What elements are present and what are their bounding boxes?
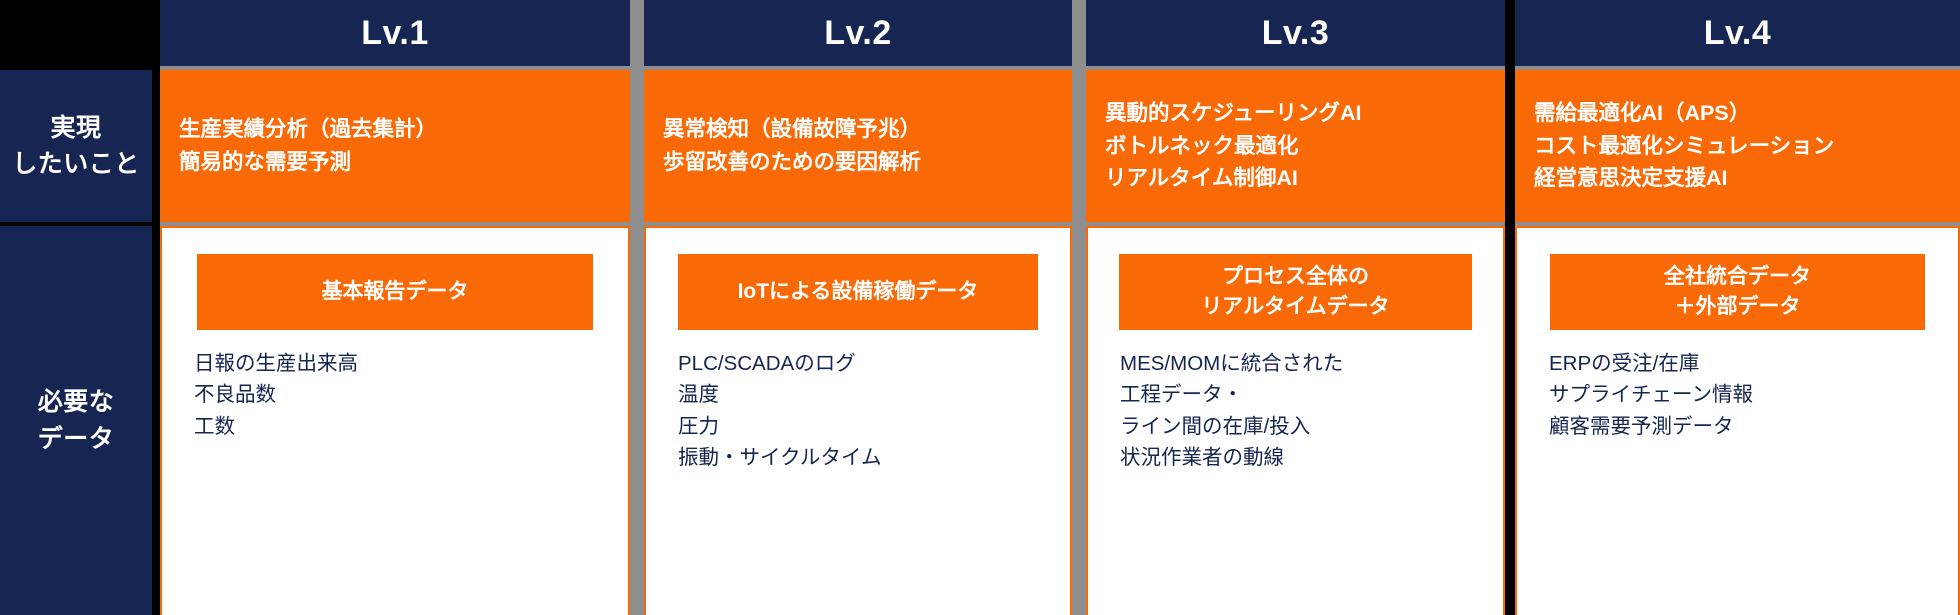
row-label-goals-line-2: したいこと — [12, 146, 140, 182]
column-header-lv4-label: Lv.4 — [1704, 14, 1772, 53]
goal-line: 需給最適化AI（APS） — [1534, 97, 1952, 130]
data-cell-lv2: IoTによる設備稼働データ PLC/SCADAのログ 温度 圧力 振動・サイクル… — [644, 226, 1072, 615]
data-list-item: ERPの受注/在庫 — [1549, 348, 1958, 379]
goal-line: 経営意思決定支援AI — [1534, 162, 1952, 195]
goal-line: 異動的スケジューリングAI — [1105, 97, 1497, 130]
goal-cell-lv4: 需給最適化AI（APS） コスト最適化シミュレーション 経営意思決定支援AI — [1515, 70, 1960, 222]
data-cell-lv4: 全社統合データ ＋外部データ ERPの受注/在庫 サプライチェーン情報 顧客需要… — [1515, 226, 1960, 615]
data-badge-line: ＋外部データ — [1675, 292, 1801, 322]
data-badge-line: 全社統合データ — [1664, 262, 1811, 292]
column-header-lv2[interactable]: Lv.2 — [644, 0, 1072, 66]
goal-line: 簡易的な需要予測 — [179, 146, 622, 179]
column-header-lv3-label: Lv.3 — [1262, 14, 1330, 53]
column-header-lv2-label: Lv.2 — [824, 14, 892, 53]
column-divider-lv2-lv3 — [1072, 0, 1086, 615]
data-badge-lv2: IoTによる設備稼働データ — [678, 254, 1038, 330]
column-header-lv1[interactable]: Lv.1 — [160, 0, 630, 66]
data-list-lv4: ERPの受注/在庫 サプライチェーン情報 顧客需要予測データ — [1517, 348, 1958, 442]
data-cell-lv3: プロセス全体の リアルタイムデータ MES/MOMに統合された 工程データ・ ラ… — [1086, 226, 1505, 615]
row-label-required-data: 必要な データ — [0, 226, 152, 615]
row-label-goals-line-1: 実現 — [50, 110, 101, 146]
goal-line: 異常検知（設備故障予兆） — [663, 113, 1064, 146]
data-list-item: 日報の生産出来高 — [194, 348, 628, 379]
data-cell-lv1: 基本報告データ 日報の生産出来高 不良品数 工数 — [160, 226, 630, 615]
column-header-lv4[interactable]: Lv.4 — [1515, 0, 1960, 66]
goal-cell-lv1: 生産実績分析（過去集計） 簡易的な需要予測 — [160, 70, 630, 222]
data-list-item: 圧力 — [678, 411, 1070, 442]
data-list-item: 状況作業者の動線 — [1120, 442, 1503, 473]
data-list-item: 工数 — [194, 411, 628, 442]
maturity-level-matrix: 実現 したいこと 必要な データ Lv.1 生産実績分析（過去集計） 簡易的な需… — [0, 0, 1960, 615]
data-badge-line: 基本報告データ — [322, 277, 469, 307]
data-badge-lv3: プロセス全体の リアルタイムデータ — [1119, 254, 1472, 330]
data-badge-line: IoTによる設備稼働データ — [738, 277, 979, 307]
goal-line: コスト最適化シミュレーション — [1534, 130, 1952, 163]
data-badge-line: リアルタイムデータ — [1201, 292, 1389, 322]
data-list-item: 工程データ・ — [1120, 379, 1503, 410]
column-header-lv3[interactable]: Lv.3 — [1086, 0, 1505, 66]
column-divider-label — [152, 0, 160, 615]
goal-line: 生産実績分析（過去集計） — [179, 113, 622, 146]
data-badge-lv4: 全社統合データ ＋外部データ — [1550, 254, 1925, 330]
data-list-item: サプライチェーン情報 — [1549, 379, 1958, 410]
data-list-item: MES/MOMに統合された — [1120, 348, 1503, 379]
row-label-required-data-line-1: 必要な — [38, 384, 115, 420]
data-list-lv2: PLC/SCADAのログ 温度 圧力 振動・サイクルタイム — [646, 348, 1070, 473]
column-divider-lv1-lv2 — [630, 0, 644, 615]
goal-line: 歩留改善のための要因解析 — [663, 146, 1064, 179]
column-header-lv1-label: Lv.1 — [361, 14, 429, 53]
data-list-item: 顧客需要予測データ — [1549, 411, 1958, 442]
data-list-item: PLC/SCADAのログ — [678, 348, 1070, 379]
column-divider-lv3-lv4 — [1505, 0, 1515, 615]
data-list-lv1: 日報の生産出来高 不良品数 工数 — [162, 348, 628, 442]
goal-line: ボトルネック最適化 — [1105, 130, 1497, 163]
data-badge-lv1: 基本報告データ — [197, 254, 593, 330]
data-list-item: 振動・サイクルタイム — [678, 442, 1070, 473]
row-label-required-data-line-2: データ — [38, 421, 115, 457]
goal-cell-lv3: 異動的スケジューリングAI ボトルネック最適化 リアルタイム制御AI — [1086, 70, 1505, 222]
data-list-item: 温度 — [678, 379, 1070, 410]
corner-blank-cell — [0, 0, 152, 66]
data-list-lv3: MES/MOMに統合された 工程データ・ ライン間の在庫/投入 状況作業者の動線 — [1088, 348, 1503, 473]
data-list-item: 不良品数 — [194, 379, 628, 410]
data-list-item: ライン間の在庫/投入 — [1120, 411, 1503, 442]
goal-line: リアルタイム制御AI — [1105, 162, 1497, 195]
row-label-goals: 実現 したいこと — [0, 70, 152, 222]
goal-cell-lv2: 異常検知（設備故障予兆） 歩留改善のための要因解析 — [644, 70, 1072, 222]
data-badge-line: プロセス全体の — [1222, 262, 1369, 292]
